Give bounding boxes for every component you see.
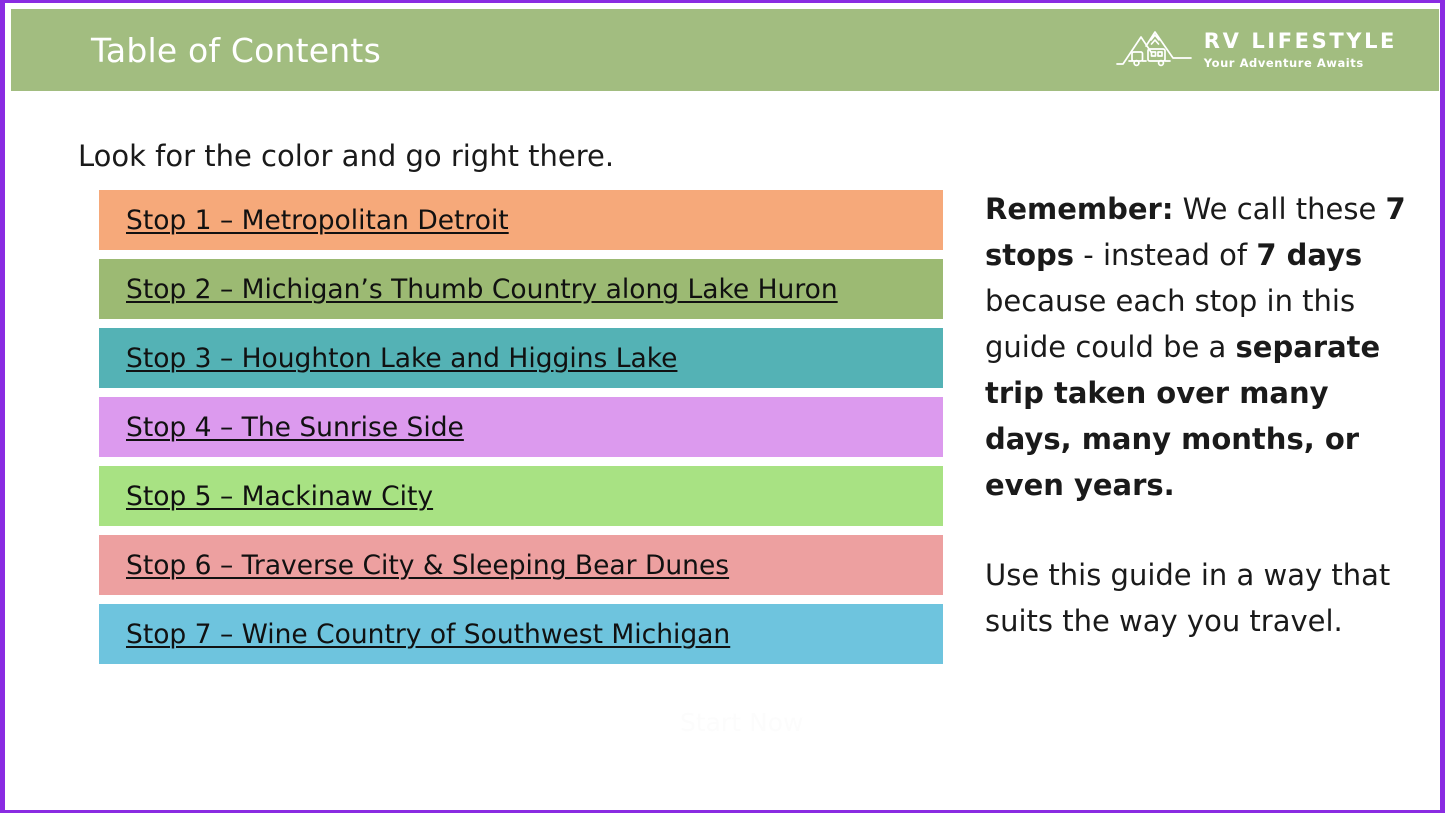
remember-text-2: - instead of xyxy=(1074,238,1256,272)
stop-bar[interactable]: Stop 7 – Wine Country of Southwest Michi… xyxy=(99,604,943,664)
stop-list: Stop 1 – Metropolitan DetroitStop 2 – Mi… xyxy=(99,190,943,673)
stop-bar[interactable]: Stop 3 – Houghton Lake and Higgins Lake xyxy=(99,328,943,388)
seven-days-emph: 7 days xyxy=(1256,238,1362,272)
page-title: Table of Contents xyxy=(91,31,381,70)
remember-text-1: We call these xyxy=(1173,192,1385,226)
stop-bar[interactable]: Stop 5 – Mackinaw City xyxy=(99,466,943,526)
stop-bar[interactable]: Stop 4 – The Sunrise Side xyxy=(99,397,943,457)
stop-link[interactable]: Stop 1 – Metropolitan Detroit xyxy=(126,205,509,236)
stop-link[interactable]: Stop 4 – The Sunrise Side xyxy=(126,412,464,443)
slide-inner: Table of Contents xyxy=(5,3,1440,810)
slide-body: Look for the color and go right there. S… xyxy=(11,91,1439,804)
stop-bar[interactable]: Stop 1 – Metropolitan Detroit xyxy=(99,190,943,250)
stop-link[interactable]: Stop 2 – Michigan’s Thumb Country along … xyxy=(126,274,838,305)
stop-link[interactable]: Stop 7 – Wine Country of Southwest Michi… xyxy=(126,619,730,650)
slide-frame: Table of Contents xyxy=(0,0,1445,813)
right-text-column: Remember: We call these 7 stops - instea… xyxy=(985,186,1410,644)
remember-label: Remember: xyxy=(985,192,1173,226)
brand-text-block: RV LIFESTYLE Your Adventure Awaits xyxy=(1204,31,1397,70)
intro-text: Look for the color and go right there. xyxy=(78,139,614,173)
brand-name: RV LIFESTYLE xyxy=(1204,31,1397,52)
brand-tagline: Your Adventure Awaits xyxy=(1204,58,1364,70)
mountain-rv-camper-icon xyxy=(1115,25,1193,75)
slide-header: Table of Contents xyxy=(11,9,1439,91)
stop-bar[interactable]: Stop 6 – Traverse City & Sleeping Bear D… xyxy=(99,535,943,595)
stop-link[interactable]: Stop 5 – Mackinaw City xyxy=(126,481,433,512)
remember-paragraph: Remember: We call these 7 stops - instea… xyxy=(985,186,1410,508)
stop-link[interactable]: Stop 6 – Traverse City & Sleeping Bear D… xyxy=(126,550,729,581)
usage-paragraph: Use this guide in a way that suits the w… xyxy=(985,552,1410,644)
stop-bar[interactable]: Stop 2 – Michigan’s Thumb Country along … xyxy=(99,259,943,319)
stop-link[interactable]: Stop 3 – Houghton Lake and Higgins Lake xyxy=(126,343,677,374)
brand-logo: RV LIFESTYLE Your Adventure Awaits xyxy=(1115,25,1423,75)
start-now-link[interactable]: Start Now xyxy=(680,708,803,737)
